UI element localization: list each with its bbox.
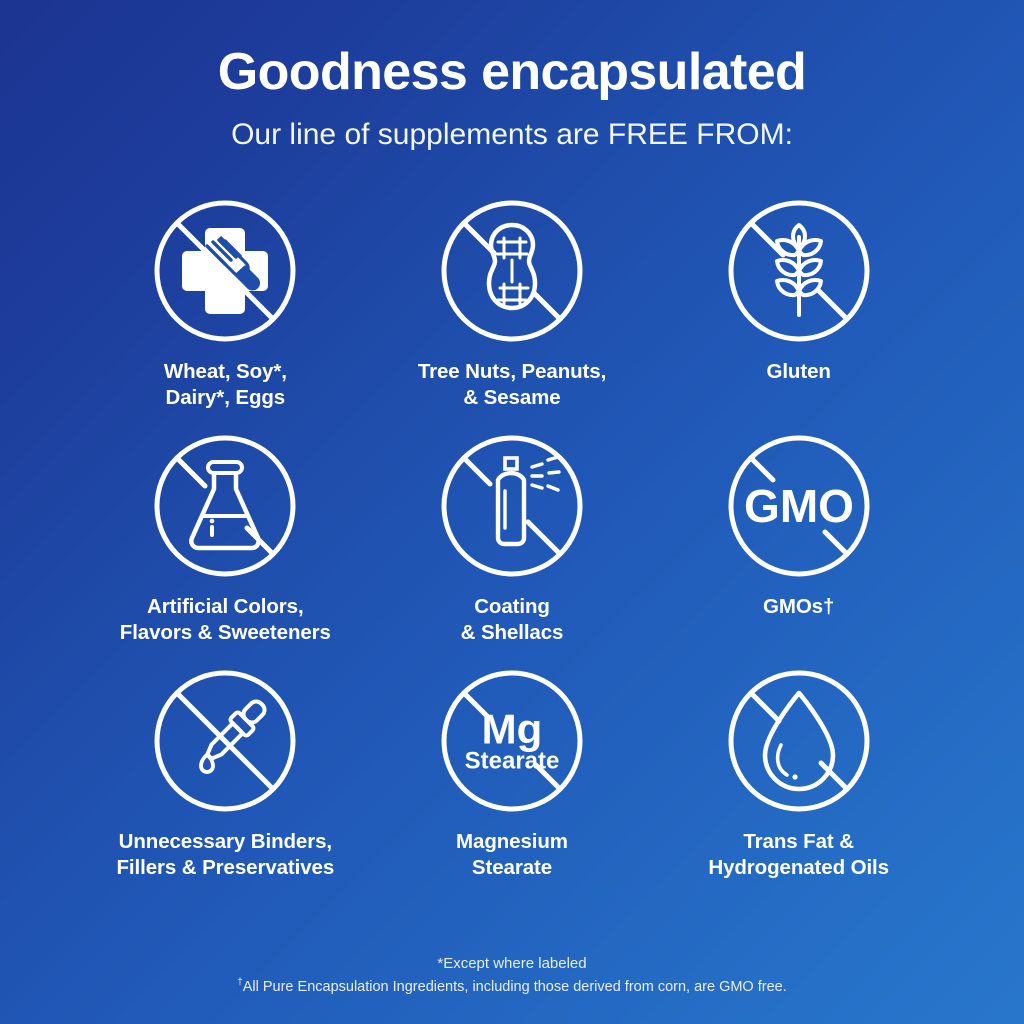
no-gmo-icon: GMO	[725, 432, 873, 580]
grid-item-label: Tree Nuts, Peanuts, & Sesame	[418, 359, 606, 410]
grid-item-artificial-colors: Artificial Colors, Flavors & Sweeteners	[82, 432, 369, 667]
grid-item-label: Unnecessary Binders, Fillers & Preservat…	[117, 829, 335, 880]
infographic-poster: Goodness encapsulated Our line of supple…	[0, 0, 1024, 1024]
page-subtitle: Our line of supplements are FREE FROM:	[0, 117, 1024, 153]
footnote-asterisk: *Except where labeled	[0, 952, 1024, 975]
page-title: Goodness encapsulated	[0, 44, 1024, 101]
no-magnesium-stearate-icon: Mg Stearate	[438, 667, 586, 815]
grid-item-label: Artificial Colors, Flavors & Sweeteners	[120, 594, 331, 645]
grid-item-gluten: Gluten	[655, 197, 942, 432]
grid-item-trans-fat: Trans Fat & Hydrogenated Oils	[655, 667, 942, 902]
grid-item-label: Gluten	[766, 359, 830, 384]
no-wheat-stalk-icon	[725, 197, 873, 345]
footnote-dagger: †All Pure Encapsulation Ingredients, inc…	[0, 976, 1024, 998]
no-spray-can-icon	[438, 432, 586, 580]
gmo-inner-text: GMO	[744, 480, 854, 532]
free-from-grid: Wheat, Soy*, Dairy*, Eggs	[82, 197, 942, 902]
grid-item-allergens: Wheat, Soy*, Dairy*, Eggs	[82, 197, 369, 432]
grid-item-label: Coating & Shellacs	[461, 594, 564, 645]
no-peanut-icon	[438, 197, 586, 345]
no-oil-droplet-icon	[725, 667, 873, 815]
grid-item-magnesium-stearate: Mg Stearate Magnesium Stearate	[369, 667, 656, 902]
grid-item-label: Trans Fat & Hydrogenated Oils	[708, 829, 889, 880]
no-flask-icon	[151, 432, 299, 580]
grid-item-coating: Coating & Shellacs	[369, 432, 656, 667]
grid-item-label: Wheat, Soy*, Dairy*, Eggs	[164, 359, 287, 410]
mg-inner-text: Mg	[482, 706, 543, 753]
grid-item-nuts: Tree Nuts, Peanuts, & Sesame	[369, 197, 656, 432]
grid-item-label: GMOs†	[763, 594, 834, 619]
footnotes: *Except where labeled †All Pure Encapsul…	[0, 952, 1024, 998]
no-dropper-pipette-icon	[151, 667, 299, 815]
footnote-dagger-text: All Pure Encapsulation Ingredients, incl…	[243, 979, 787, 995]
no-allergens-fork-cross-icon	[151, 197, 299, 345]
grid-item-gmo: GMO GMOs†	[655, 432, 942, 667]
poster-header: Goodness encapsulated Our line of supple…	[0, 0, 1024, 153]
grid-item-label: Magnesium Stearate	[456, 829, 568, 880]
grid-item-binders: Unnecessary Binders, Fillers & Preservat…	[82, 667, 369, 902]
stearate-inner-text: Stearate	[465, 748, 560, 775]
